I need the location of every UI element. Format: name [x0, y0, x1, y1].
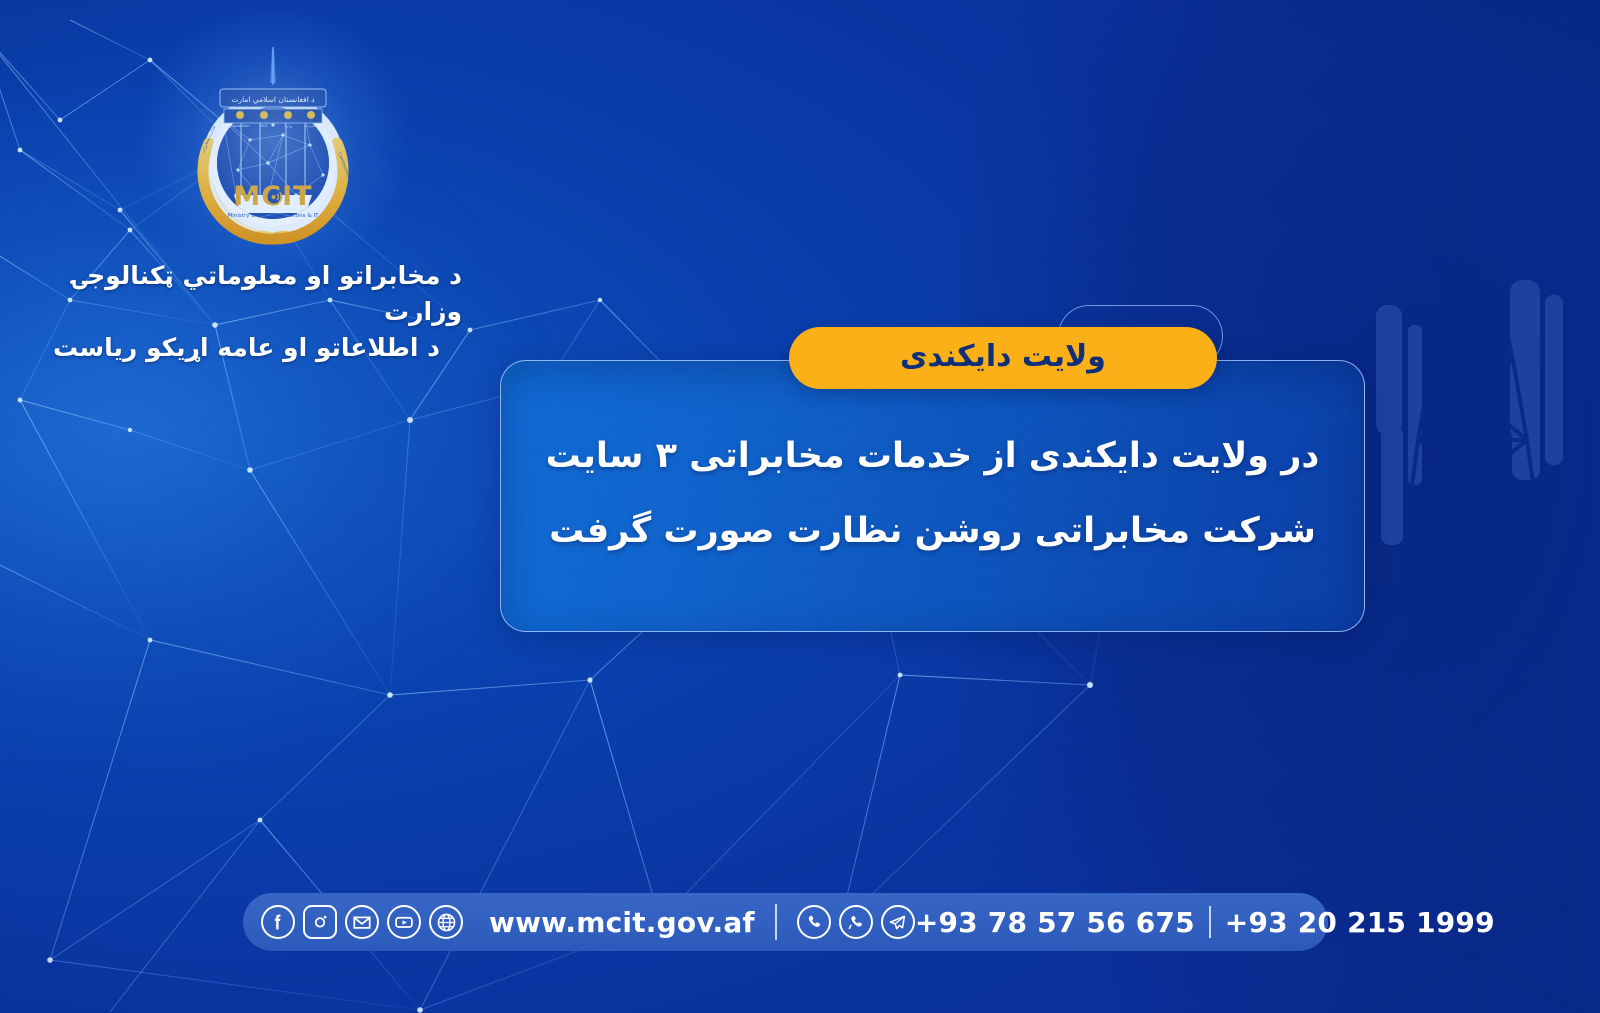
mcit-logo: وزارت مخابرات Communications	[178, 45, 368, 250]
ministry-titles: د مخابراتو او معلوماتي ټکنالوجۍ وزارت د …	[0, 258, 462, 366]
website-globe-icon[interactable]	[429, 905, 463, 939]
announcement-text: در ولایت دایکندی از خدمات مخابراتی ۳ سای…	[539, 419, 1326, 569]
social-icon-group	[261, 905, 463, 939]
whatsapp-icon[interactable]	[839, 905, 873, 939]
phone-numbers: +93 78 57 56 675 +93 20 215 1999	[915, 906, 1495, 939]
instagram-icon[interactable]	[303, 905, 337, 939]
email-icon[interactable]	[345, 905, 379, 939]
contact-footer-bar: www.mcit.gov.af +93	[243, 893, 1328, 951]
announcement-line-2: شرکت مخابراتی روشن نظارت صورت گرفت	[539, 494, 1326, 569]
website-url[interactable]: www.mcit.gov.af	[489, 906, 755, 939]
youtube-icon[interactable]	[387, 905, 421, 939]
poster-canvas: وزارت مخابرات Communications	[0, 0, 1600, 1013]
telegram-icon[interactable]	[881, 905, 915, 939]
province-badge-label: ولایت دایکندی	[900, 339, 1106, 374]
footer-divider-1	[775, 904, 777, 940]
contact-icon-group	[797, 905, 915, 939]
phone-icon[interactable]	[797, 905, 831, 939]
ministry-name: د مخابراتو او معلوماتي ټکنالوجۍ وزارت	[0, 258, 462, 330]
announcement-card: در ولایت دایکندی از خدمات مخابراتی ۳ سای…	[500, 360, 1365, 632]
department-name: د اطلاعاتو او عامه اړیکو ریاست	[0, 330, 462, 366]
phone-primary[interactable]: +93 78 57 56 675	[915, 906, 1195, 939]
facebook-icon[interactable]	[261, 905, 295, 939]
logo-glow	[136, 11, 410, 285]
announcement-line-1: در ولایت دایکندی از خدمات مخابراتی ۳ سای…	[539, 419, 1326, 494]
phone-secondary[interactable]: +93 20 215 1999	[1225, 906, 1495, 939]
province-badge: ولایت دایکندی	[789, 327, 1217, 389]
footer-divider-2	[1209, 906, 1211, 938]
